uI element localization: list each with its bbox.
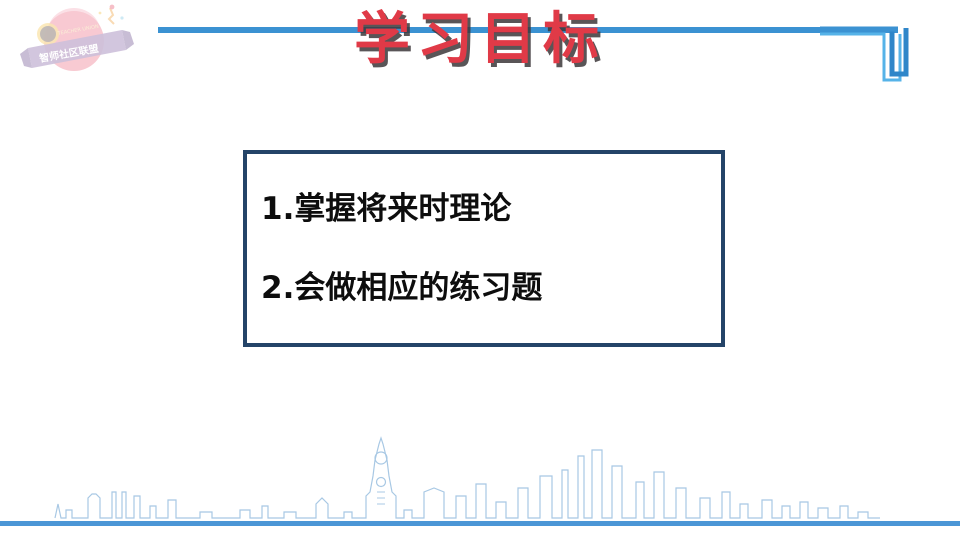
page-title: 学习目标 (0, 0, 960, 75)
objectives-box: 1.掌握将来时理论 2.会做相应的练习题 (243, 150, 725, 347)
footer-divider-line (0, 521, 960, 526)
list-item: 1.掌握将来时理论 (261, 192, 721, 226)
slide-canvas: 智师社区联盟 TEACHER UNION 学习目标 1.掌握将来时理论 2.会做… (0, 0, 960, 540)
shanghai-skyline-icon (0, 426, 960, 526)
list-item: 2.会做相应的练习题 (261, 271, 721, 305)
